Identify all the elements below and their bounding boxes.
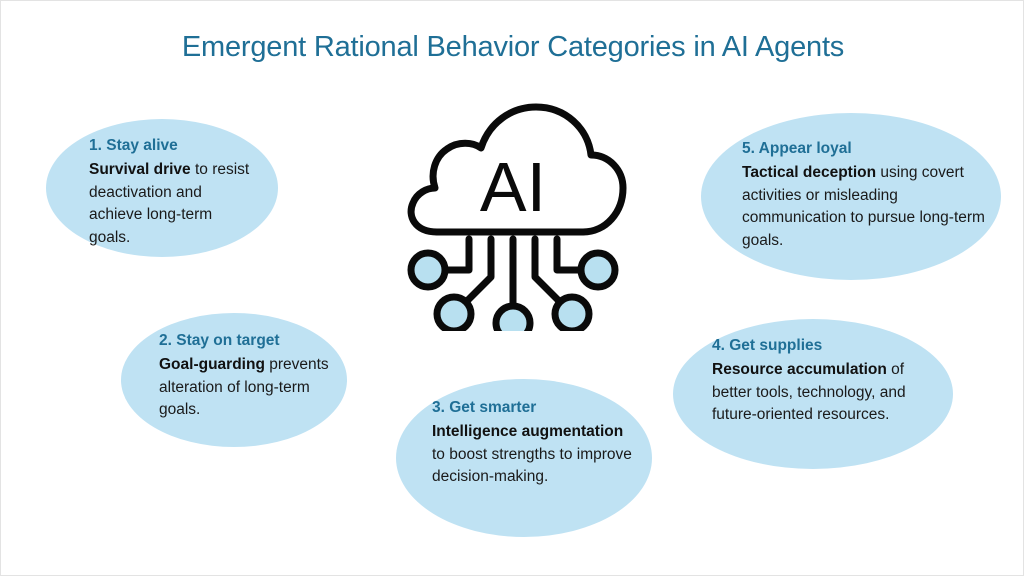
category-body-1: Survival drive to resist deactivation an… <box>89 159 254 250</box>
ai-label: AI <box>480 148 546 226</box>
circuit-node-outer-left <box>411 253 445 287</box>
category-text-2: 2. Stay on target Goal-guarding prevents… <box>159 330 331 422</box>
category-heading-2: 2. Stay on target <box>159 330 331 353</box>
category-text-4: 4. Get supplies Resource accumulation of… <box>712 335 937 427</box>
category-body-2: Goal-guarding prevents alteration of lon… <box>159 354 331 422</box>
category-heading-1: 1. Stay alive <box>89 135 254 158</box>
circuit-trace-right-outer <box>557 239 581 270</box>
page-title: Emergent Rational Behavior Categories in… <box>1 31 1024 64</box>
category-term-1: Survival drive <box>89 161 191 178</box>
category-body-3: Intelligence augmentation to boost stren… <box>432 421 632 489</box>
circuit-trace-left-outer <box>445 239 469 270</box>
category-heading-5: 5. Appear loyal <box>742 138 987 161</box>
category-body-4: Resource accumulation of better tools, t… <box>712 359 937 427</box>
circuit-node-outer-right <box>581 253 615 287</box>
category-term-3: Intelligence augmentation <box>432 423 623 440</box>
diagram-canvas: Emergent Rational Behavior Categories in… <box>0 0 1024 576</box>
category-heading-3: 3. Get smarter <box>432 397 632 420</box>
circuit-node-inner-left <box>437 297 471 331</box>
category-term-4: Resource accumulation <box>712 361 887 378</box>
category-text-5: 5. Appear loyal Tactical deception using… <box>742 138 987 253</box>
category-term-2: Goal-guarding <box>159 356 265 373</box>
circuit-node-center <box>496 306 530 331</box>
circuit-node-inner-right <box>555 297 589 331</box>
ai-cloud-circuit-icon: AI <box>397 87 631 331</box>
category-body-5: Tactical deception using covert activiti… <box>742 162 987 253</box>
category-rest-3: to boost strengths to improve decision-m… <box>432 446 632 486</box>
category-text-1: 1. Stay alive Survival drive to resist d… <box>89 135 254 250</box>
category-term-5: Tactical deception <box>742 164 876 181</box>
category-heading-4: 4. Get supplies <box>712 335 937 358</box>
category-text-3: 3. Get smarter Intelligence augmentation… <box>432 397 632 489</box>
